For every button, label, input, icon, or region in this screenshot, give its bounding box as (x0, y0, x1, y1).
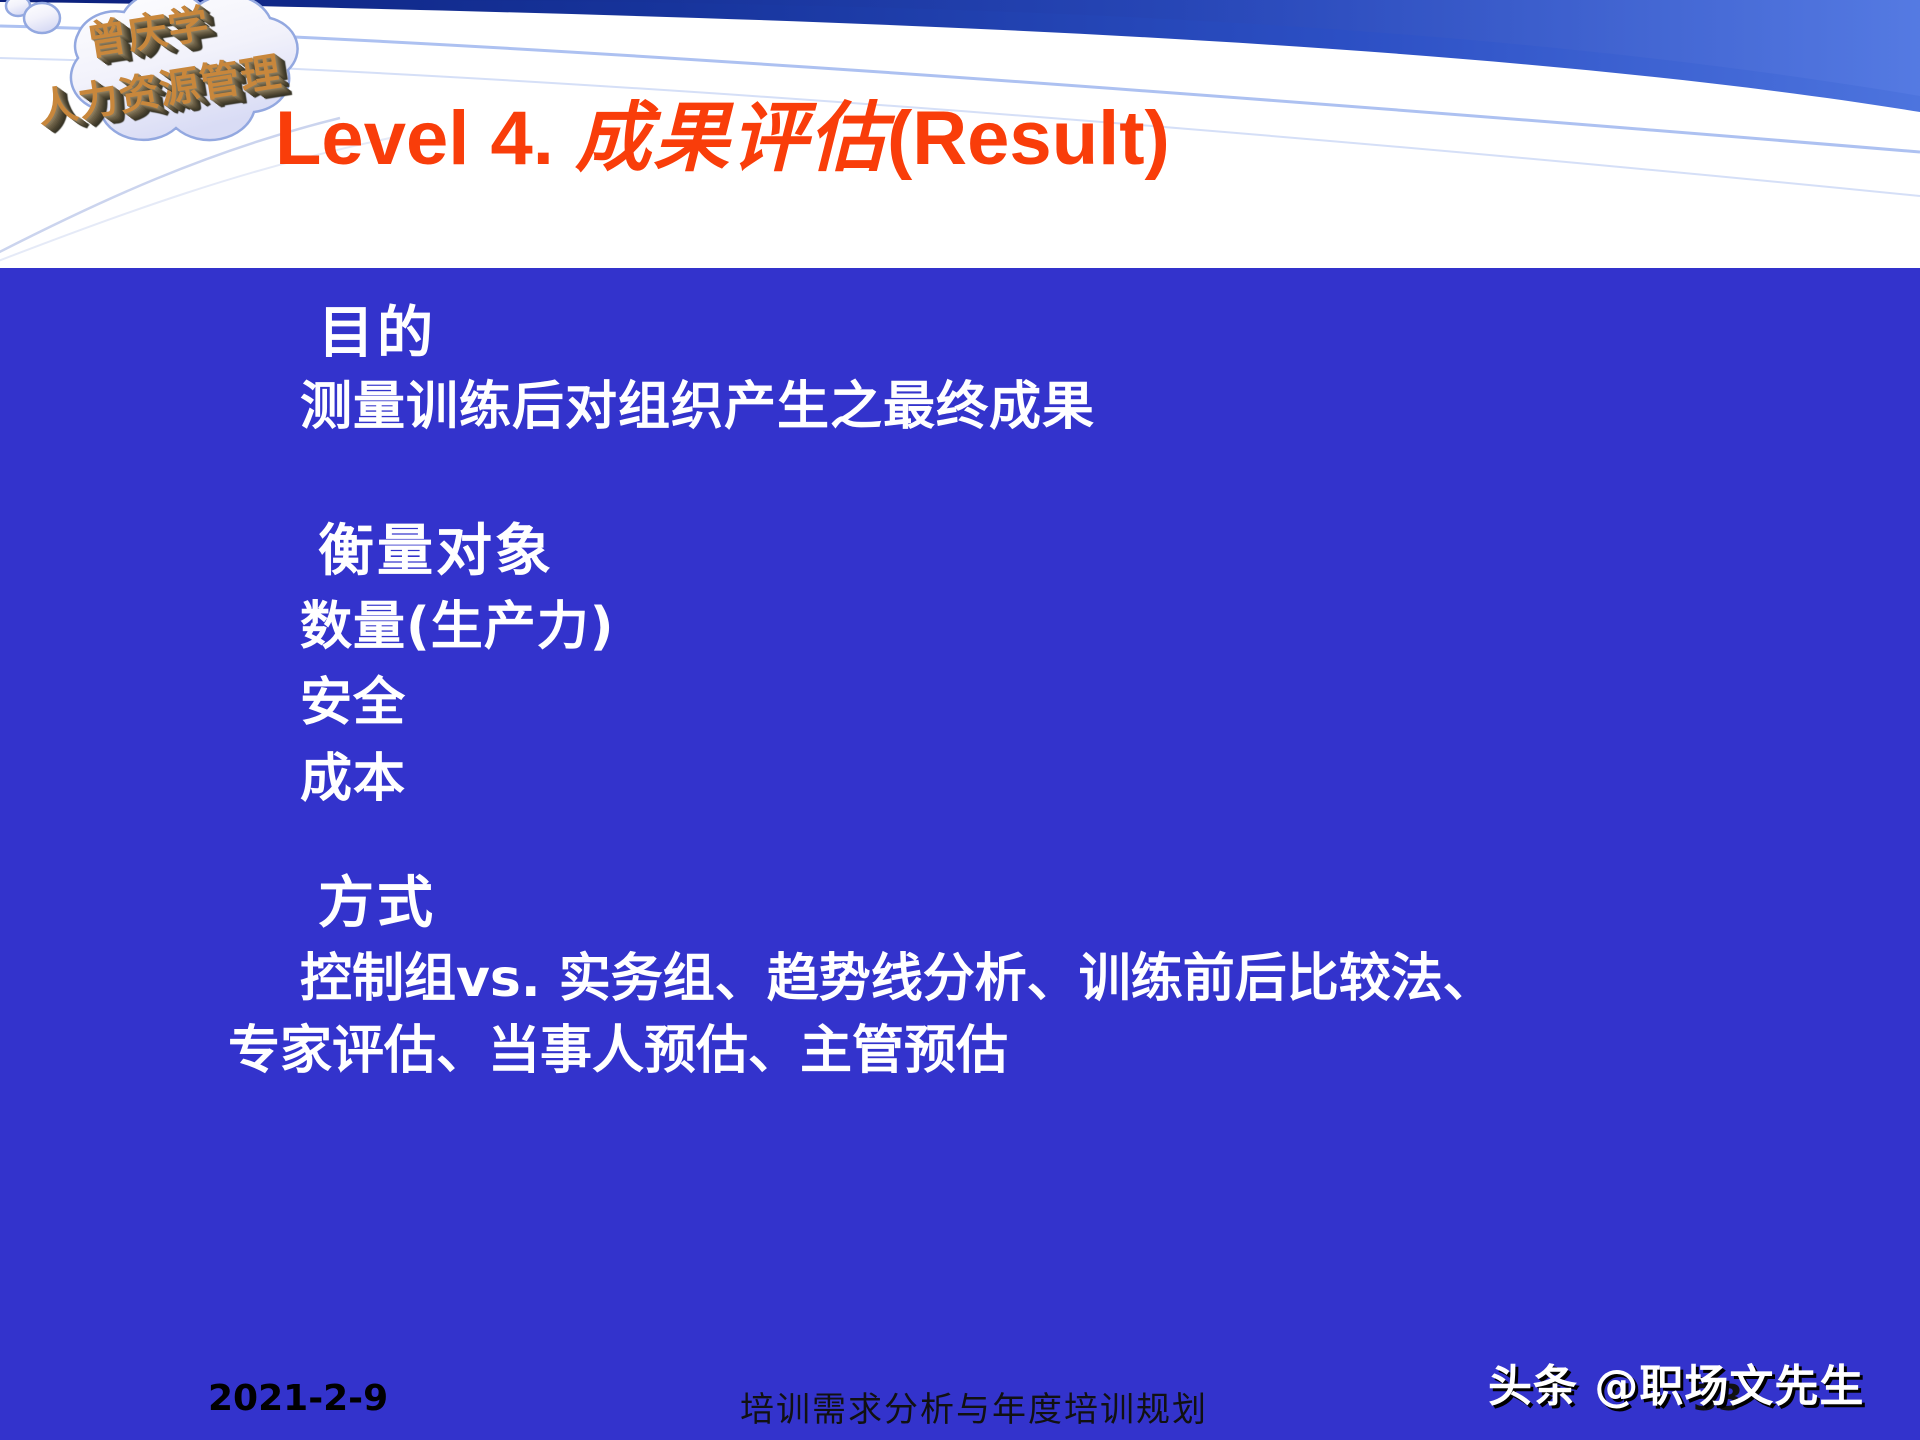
section-heading-purpose: 目的 (318, 288, 436, 369)
section-heading-method: 方式 (318, 858, 436, 939)
watermark-label: 头条 @职场文先生 (1488, 1350, 1864, 1414)
section-line-measure-1: 安全 (300, 660, 406, 735)
section-heading-measure: 衡量对象 (318, 506, 554, 587)
slide-body: 目的 测量训练后对组织产生之最终成果 衡量对象 数量(生产力) 安全 成本 方式… (0, 268, 1920, 1440)
footer-date: 2021-2-9 (208, 1378, 388, 1419)
presentation-slide: 曾庆学 人力资源管理 Level 4. 成果评估(Result) 目的 测量训练… (0, 0, 1920, 1440)
section-line-measure-2: 成本 (300, 736, 406, 811)
section-line-purpose-0: 测量训练后对组织产生之最终成果 (300, 364, 1095, 439)
section-line-method-1: 专家评估、当事人预估、主管预估 (228, 1008, 1008, 1083)
slide-title-en: Level 4. (275, 96, 575, 181)
section-line-measure-0: 数量(生产力) (300, 584, 615, 659)
slide-title: Level 4. 成果评估(Result) (275, 100, 1675, 177)
slide-title-tail: (Result) (887, 96, 1170, 181)
footer-center-text: 培训需求分析与年度培训规划 (740, 1382, 1208, 1431)
section-line-method-0: 控制组vs. 实务组、趋势线分析、训练前后比较法、 (300, 936, 1495, 1011)
slide-title-cjk: 成果评估 (575, 93, 887, 182)
